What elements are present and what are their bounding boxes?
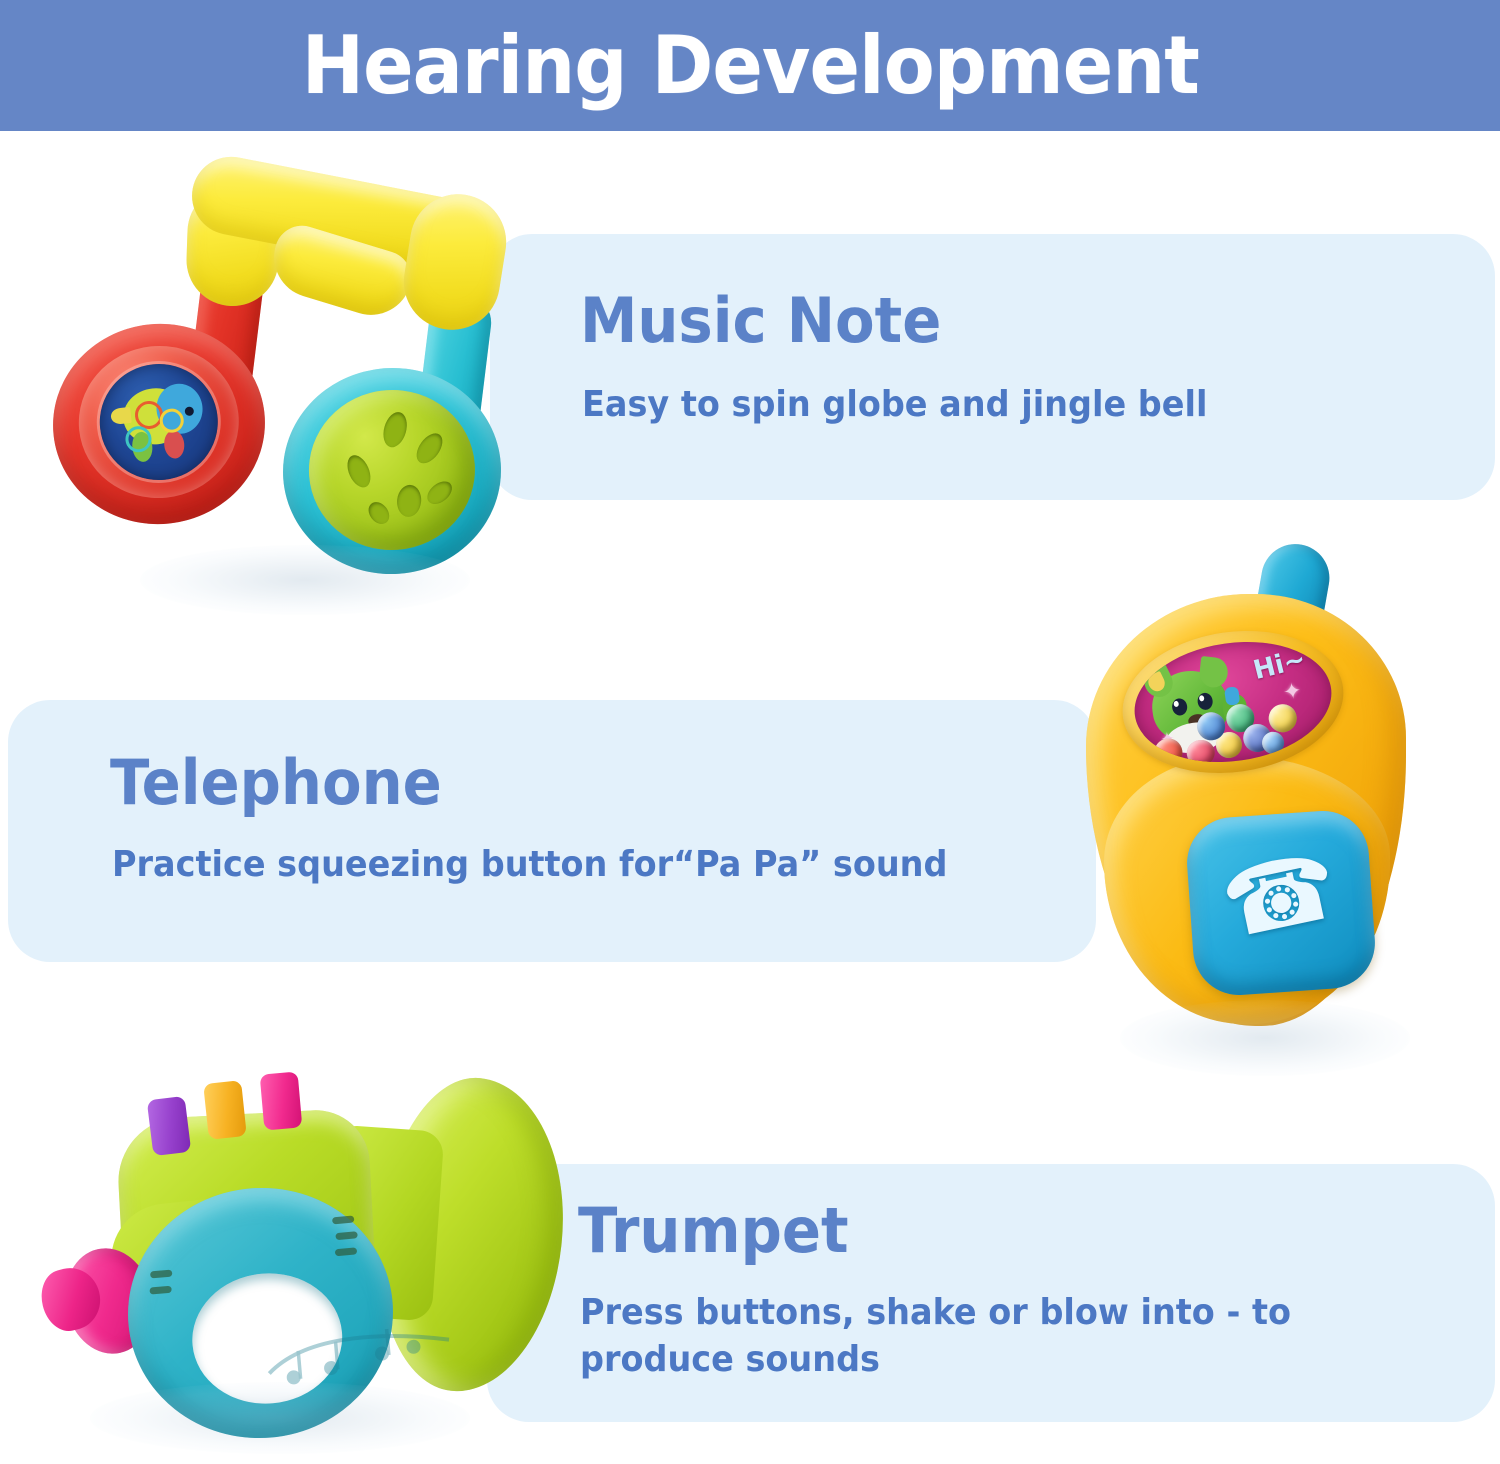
trumpet-vent-slot bbox=[150, 1270, 173, 1279]
elephant-trunk bbox=[110, 407, 132, 425]
page-header-band: Hearing Development bbox=[0, 0, 1500, 131]
feature-card-music-note bbox=[490, 234, 1495, 500]
phone-handset-icon: ☎ bbox=[1214, 839, 1347, 964]
telephone-squeeze-button[interactable]: ☎ bbox=[1184, 808, 1378, 998]
music-note-jingle-ball bbox=[304, 384, 481, 555]
feature-card-telephone bbox=[8, 700, 1096, 962]
screen-star-icon: ✦ bbox=[1282, 679, 1303, 703]
ball-hole bbox=[396, 484, 423, 518]
card-title-telephone: Telephone bbox=[110, 752, 442, 814]
ball-hole bbox=[364, 498, 393, 528]
trumpet-vent-slot bbox=[149, 1286, 172, 1295]
elephant-leg-back bbox=[163, 430, 186, 460]
trumpet-toy-image bbox=[28, 1070, 558, 1460]
card-description-music-note: Easy to spin globe and jingle bell bbox=[582, 382, 1207, 429]
ball-hole bbox=[343, 452, 375, 491]
bead bbox=[1267, 702, 1299, 734]
page-title: Hearing Development bbox=[301, 26, 1198, 106]
card-title-trumpet: Trumpet bbox=[578, 1200, 849, 1262]
product-feature-page: Hearing Development Music Note Easy to s… bbox=[0, 0, 1500, 1464]
card-description-trumpet: Press buttons, shake or blow into - to p… bbox=[580, 1290, 1343, 1384]
ball-hole bbox=[411, 429, 447, 468]
telephone-toy-image: Hi~ ✦ ✦ ☎ bbox=[1068, 542, 1458, 1042]
cat-handset bbox=[1224, 686, 1240, 706]
trumpet-vent-slot bbox=[332, 1215, 355, 1224]
trumpet-valve-button-purple[interactable] bbox=[147, 1096, 192, 1156]
bead bbox=[1261, 730, 1286, 755]
card-title-music-note: Music Note bbox=[580, 290, 941, 352]
trumpet-valve-button-yellow[interactable] bbox=[203, 1080, 247, 1140]
music-note-toy-image bbox=[45, 172, 565, 592]
card-description-telephone: Practice squeezing button for“Pa Pa” sou… bbox=[112, 842, 947, 889]
trumpet-vent-slot bbox=[335, 1231, 358, 1240]
trumpet-valve-button-pink[interactable] bbox=[260, 1071, 303, 1130]
trumpet-vent-slot bbox=[335, 1247, 358, 1256]
ball-hole bbox=[423, 477, 456, 509]
ball-hole bbox=[380, 409, 411, 450]
